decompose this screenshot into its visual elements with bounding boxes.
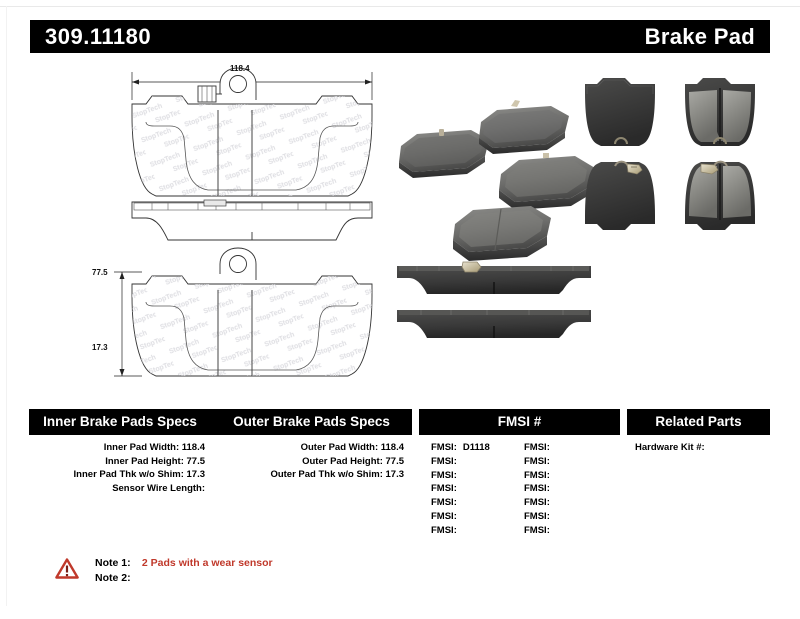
fmsi-row: FMSI: <box>524 455 556 469</box>
fmsi-row: FMSI: <box>431 469 490 483</box>
fmsi-label: FMSI: <box>431 442 457 453</box>
inner-spec-row: Inner Pad Thk w/o Shim: 17.3 <box>29 468 205 482</box>
product-photos <box>385 72 785 352</box>
fmsi-label: FMSI: <box>524 470 550 481</box>
technical-drawing: StopTech StopTech <box>112 60 392 380</box>
pad-face-view-top <box>130 68 374 200</box>
photo-edge-on-pads <box>397 262 591 338</box>
fmsi-label: FMSI: <box>524 483 550 494</box>
fmsi-row: FMSI:D1118 <box>431 441 490 455</box>
inner-spec-row: Sensor Wire Length: <box>29 482 205 496</box>
fmsi-row: FMSI: <box>524 510 556 524</box>
fmsi-row: FMSI: <box>431 510 490 524</box>
fmsi-label: FMSI: <box>524 511 550 522</box>
fmsi-label: FMSI: <box>431 470 457 481</box>
note-2-label: Note 2: <box>95 572 139 584</box>
note-2-row: Note 2: <box>95 572 139 584</box>
fmsi-label: FMSI: <box>431 456 457 467</box>
fmsi-row: FMSI: <box>524 524 556 538</box>
spec-table: Inner Brake Pads Specs Outer Brake Pads … <box>29 409 770 565</box>
notes-section: Note 1: 2 Pads with a wear sensor Note 2… <box>55 555 455 600</box>
fmsi-row: FMSI: <box>431 455 490 469</box>
fmsi-label: FMSI: <box>431 483 457 494</box>
column-header-related-parts: Related Parts <box>627 409 770 435</box>
related-parts-column: Hardware Kit #: <box>627 441 770 455</box>
fmsi-row: FMSI: <box>431 482 490 496</box>
fmsi-subcolumn-left: FMSI:D1118 FMSI: FMSI: FMSI: FMSI: FMSI:… <box>431 441 490 538</box>
fmsi-row: FMSI: <box>524 496 556 510</box>
fmsi-label: FMSI: <box>431 497 457 508</box>
pad-face-view-bottom <box>130 248 374 380</box>
page-title: Brake Pad <box>645 24 755 50</box>
fmsi-row: FMSI: <box>524 469 556 483</box>
inner-spec-row: Inner Pad Height: 77.5 <box>29 455 205 469</box>
spec-table-body: Inner Pad Width: 118.4 Inner Pad Height:… <box>29 435 770 565</box>
pad-edge-view-top <box>132 200 372 240</box>
outer-spec-row: Outer Pad Height: 77.5 <box>211 455 404 469</box>
column-header-outer-specs: Outer Brake Pads Specs <box>211 409 412 435</box>
page-frame-left <box>6 6 7 606</box>
product-photo-svg <box>385 72 785 352</box>
fmsi-row: FMSI: <box>431 524 490 538</box>
column-header-inner-specs: Inner Brake Pads Specs <box>29 409 211 435</box>
fmsi-row: FMSI: <box>431 496 490 510</box>
note-1-row: Note 1: 2 Pads with a wear sensor <box>95 557 273 569</box>
fmsi-row: FMSI: <box>524 482 556 496</box>
note-1-value: 2 Pads with a wear sensor <box>142 557 273 569</box>
spec-sheet-page: 309.11180 Brake Pad StopTech StopTech <box>0 0 800 619</box>
dimension-width-label: 118.4 <box>230 64 250 73</box>
brake-pad-blueprint-svg: StopTech StopTech <box>112 60 392 380</box>
fmsi-label: FMSI: <box>431 525 457 536</box>
fmsi-row: FMSI: <box>524 441 556 455</box>
photo-angled-pads <box>399 100 595 261</box>
fmsi-value: D1118 <box>463 442 490 453</box>
page-frame-top <box>0 6 800 7</box>
outer-specs-column: Outer Pad Width: 118.4 Outer Pad Height:… <box>211 441 412 482</box>
fmsi-label: FMSI: <box>524 442 550 453</box>
fmsi-label: FMSI: <box>524 456 550 467</box>
dimension-thickness-label: 17.3 <box>92 343 108 352</box>
inner-specs-column: Inner Pad Width: 118.4 Inner Pad Height:… <box>29 441 211 495</box>
column-header-fmsi: FMSI # <box>419 409 620 435</box>
outer-spec-row: Outer Pad Thk w/o Shim: 17.3 <box>211 468 404 482</box>
note-1-label: Note 1: <box>95 557 139 569</box>
dimension-height-label: 77.5 <box>92 268 108 277</box>
related-part-row: Hardware Kit #: <box>627 441 770 455</box>
photo-flat-pads-grid <box>585 78 755 230</box>
outer-spec-row: Outer Pad Width: 118.4 <box>211 441 404 455</box>
fmsi-label: FMSI: <box>524 525 550 536</box>
warning-triangle-icon <box>55 558 79 579</box>
inner-spec-row: Inner Pad Width: 118.4 <box>29 441 205 455</box>
part-number: 309.11180 <box>45 24 151 50</box>
fmsi-label: FMSI: <box>431 511 457 522</box>
fmsi-label: FMSI: <box>524 497 550 508</box>
fmsi-subcolumn-right: FMSI: FMSI: FMSI: FMSI: FMSI: FMSI: FMSI… <box>524 441 556 538</box>
spec-table-header-row: Inner Brake Pads Specs Outer Brake Pads … <box>29 409 770 435</box>
